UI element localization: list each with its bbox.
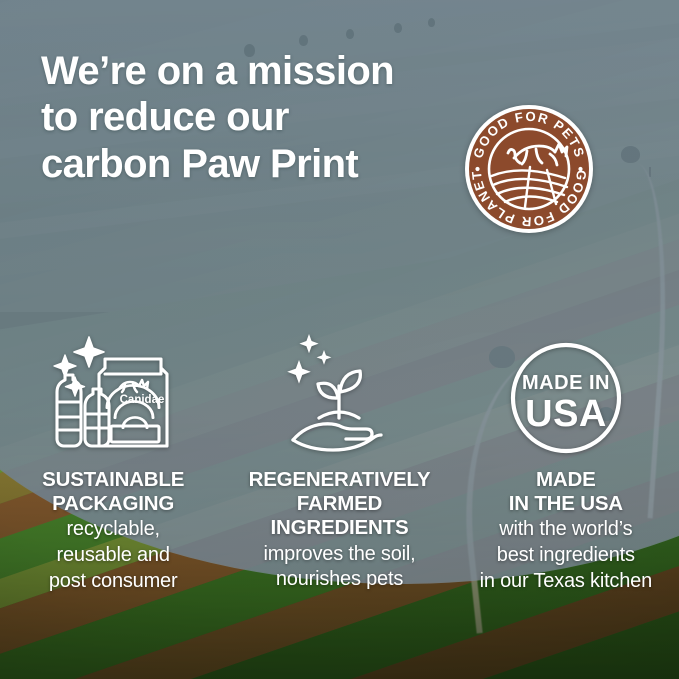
feature-sustainable-packaging: Canidae SUSTAINABLE PACKAGING recyclable… — [0, 318, 226, 594]
feature-body: with the world’s best ingredients in our… — [480, 517, 652, 594]
feature-text: MADE IN THE USA with the world’s best in… — [480, 468, 652, 594]
feature-title: SUSTAINABLE PACKAGING — [42, 468, 184, 516]
sustainable-packaging-icon: Canidae — [43, 318, 183, 454]
feature-title: MADE IN THE USA — [480, 468, 652, 516]
feature-text: SUSTAINABLE PACKAGING recyclable, reusab… — [42, 468, 184, 594]
bag-brand-label: Canidae — [120, 394, 165, 406]
regenerative-farming-icon — [273, 318, 405, 454]
feature-title: REGENERATIVELY FARMED INGREDIENTS — [249, 468, 431, 541]
feature-text: REGENERATIVELY FARMED INGREDIENTS improv… — [249, 468, 431, 593]
badge-line-1: MADE IN — [522, 372, 610, 394]
made-in-usa-badge-icon: MADE IN USA — [510, 318, 622, 454]
feature-regeneratively-farmed: REGENERATIVELY FARMED INGREDIENTS improv… — [226, 318, 452, 593]
badge-line-2: USA — [525, 393, 607, 435]
canidae-sustainability-banner: We’re on a mission to reduce our carbon … — [0, 0, 679, 679]
feature-columns: Canidae SUSTAINABLE PACKAGING recyclable… — [0, 318, 679, 618]
feature-made-in-usa: MADE IN USA MADE IN THE USA with the wor… — [453, 318, 679, 594]
feature-body: improves the soil, nourishes pets — [249, 542, 431, 593]
feature-body: recyclable, reusable and post consumer — [42, 517, 184, 594]
good-for-pets-good-for-planet-seal: GOOD FOR PETS GOOD FOR PLANET — [464, 104, 594, 234]
headline-line-1: We’re on a mission — [41, 48, 471, 94]
headline-line-2: to reduce our — [41, 94, 471, 140]
page-title: We’re on a mission to reduce our carbon … — [41, 48, 471, 187]
headline-line-3: carbon Paw Print — [41, 141, 471, 187]
